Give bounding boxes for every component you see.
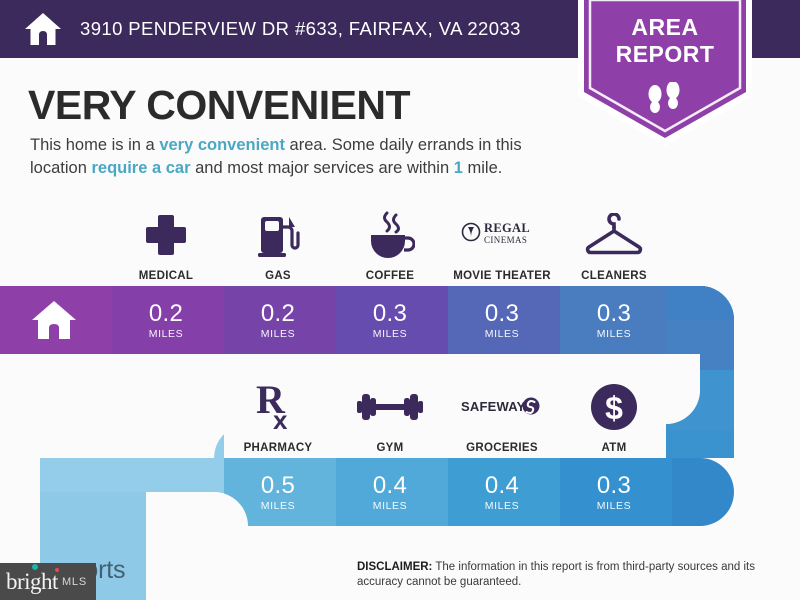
distance-unit: MILES bbox=[261, 500, 296, 512]
svg-text:x: x bbox=[273, 405, 288, 433]
gas-pump-icon bbox=[256, 207, 300, 263]
bright-mls-brand: bright bbox=[6, 569, 58, 595]
distance-row-1: 0.2 MILES 0.2 MILES 0.3 MILES 0.3 MILES … bbox=[110, 286, 670, 354]
svg-text:CINEMAS: CINEMAS bbox=[484, 235, 527, 245]
distance-value: 0.3 bbox=[597, 301, 631, 327]
amenity-label: MEDICAL bbox=[139, 270, 194, 282]
rx-pharmacy-icon: R x bbox=[255, 379, 301, 435]
amenity-label: COFFEE bbox=[366, 270, 414, 282]
distance-cell: 0.3 MILES bbox=[558, 286, 670, 354]
amenity-label: GROCERIES bbox=[466, 442, 538, 454]
distance-unit: MILES bbox=[149, 328, 184, 340]
distance-unit: MILES bbox=[373, 328, 408, 340]
amenity-gas[interactable]: GAS bbox=[222, 196, 334, 282]
disclaimer-label: DISCLAIMER: bbox=[357, 561, 432, 573]
amenity-atm[interactable]: $ ATM bbox=[558, 368, 670, 454]
distance-row-2: 0.5 MILES 0.4 MILES 0.4 MILES 0.3 MILES bbox=[222, 458, 670, 526]
disclaimer-text: DISCLAIMER: The information in this repo… bbox=[357, 560, 777, 590]
coffee-cup-icon bbox=[365, 207, 415, 263]
medical-cross-icon bbox=[142, 207, 190, 263]
distance-unit: MILES bbox=[373, 500, 408, 512]
distance-unit: MILES bbox=[485, 500, 520, 512]
amenity-medical[interactable]: MEDICAL bbox=[110, 196, 222, 282]
svg-text:SAFEWAY: SAFEWAY bbox=[461, 399, 526, 414]
brand-dot-red bbox=[55, 568, 59, 572]
area-report-page: 3910 PENDERVIEW DR #633, FAIRFAX, VA 220… bbox=[0, 0, 800, 600]
regal-cinemas-logo: REGAL CINEMAS bbox=[459, 207, 545, 263]
distance-value: 0.3 bbox=[373, 301, 407, 327]
amenity-label: ATM bbox=[602, 442, 627, 454]
safeway-logo: SAFEWAY bbox=[461, 379, 543, 435]
distance-cell: 0.3 MILES bbox=[558, 458, 670, 526]
distance-cell: 0.3 MILES bbox=[446, 286, 558, 354]
amenity-label: PHARMACY bbox=[244, 442, 313, 454]
distance-cell: 0.2 MILES bbox=[110, 286, 222, 354]
dumbbell-icon bbox=[357, 379, 423, 435]
home-marker-icon bbox=[26, 296, 82, 344]
amenity-groceries[interactable]: SAFEWAY GROCERIES bbox=[446, 368, 558, 454]
amenity-cleaners[interactable]: CLEANERS bbox=[558, 196, 670, 282]
distance-cell: 0.4 MILES bbox=[446, 458, 558, 526]
distance-unit: MILES bbox=[485, 328, 520, 340]
bright-mls-watermark: bright MLS bbox=[0, 563, 96, 600]
distance-cell: 0.4 MILES bbox=[334, 458, 446, 526]
distance-unit: MILES bbox=[261, 328, 296, 340]
distance-value: 0.4 bbox=[373, 473, 407, 499]
distance-unit: MILES bbox=[597, 500, 632, 512]
distance-cell: 0.2 MILES bbox=[222, 286, 334, 354]
dollar-atm-icon: $ bbox=[589, 379, 639, 435]
distance-value: 0.2 bbox=[149, 301, 183, 327]
distance-value: 0.4 bbox=[485, 473, 519, 499]
amenity-coffee[interactable]: COFFEE bbox=[334, 196, 446, 282]
clothes-hanger-icon bbox=[583, 207, 645, 263]
distance-value: 0.3 bbox=[597, 473, 631, 499]
amenity-gym[interactable]: GYM bbox=[334, 368, 446, 454]
svg-text:REGAL: REGAL bbox=[484, 221, 530, 235]
amenity-pharmacy[interactable]: R x PHARMACY bbox=[222, 368, 334, 454]
amenity-label: GAS bbox=[265, 270, 291, 282]
amenity-movie-theater[interactable]: REGAL CINEMAS MOVIE THEATER bbox=[446, 196, 558, 282]
amenity-icon-row-1: MEDICAL GAS bbox=[110, 196, 670, 282]
badge-shield-shape bbox=[572, 0, 758, 146]
distance-cell: 0.3 MILES bbox=[334, 286, 446, 354]
svg-text:$: $ bbox=[605, 390, 623, 426]
bright-mls-suffix: MLS bbox=[62, 576, 87, 588]
distance-cell: 0.5 MILES bbox=[222, 458, 334, 526]
amenity-label: CLEANERS bbox=[581, 270, 647, 282]
amenity-icon-row-2: R x PHARMACY GYM bbox=[222, 368, 670, 454]
distance-value: 0.2 bbox=[261, 301, 295, 327]
area-report-badge: AREA REPORT bbox=[572, 0, 758, 146]
distance-unit: MILES bbox=[597, 328, 632, 340]
distance-value: 0.5 bbox=[261, 473, 295, 499]
amenity-label: GYM bbox=[376, 442, 403, 454]
distance-value: 0.3 bbox=[485, 301, 519, 327]
amenity-label: MOVIE THEATER bbox=[453, 270, 551, 282]
brand-dot-teal bbox=[32, 564, 38, 570]
